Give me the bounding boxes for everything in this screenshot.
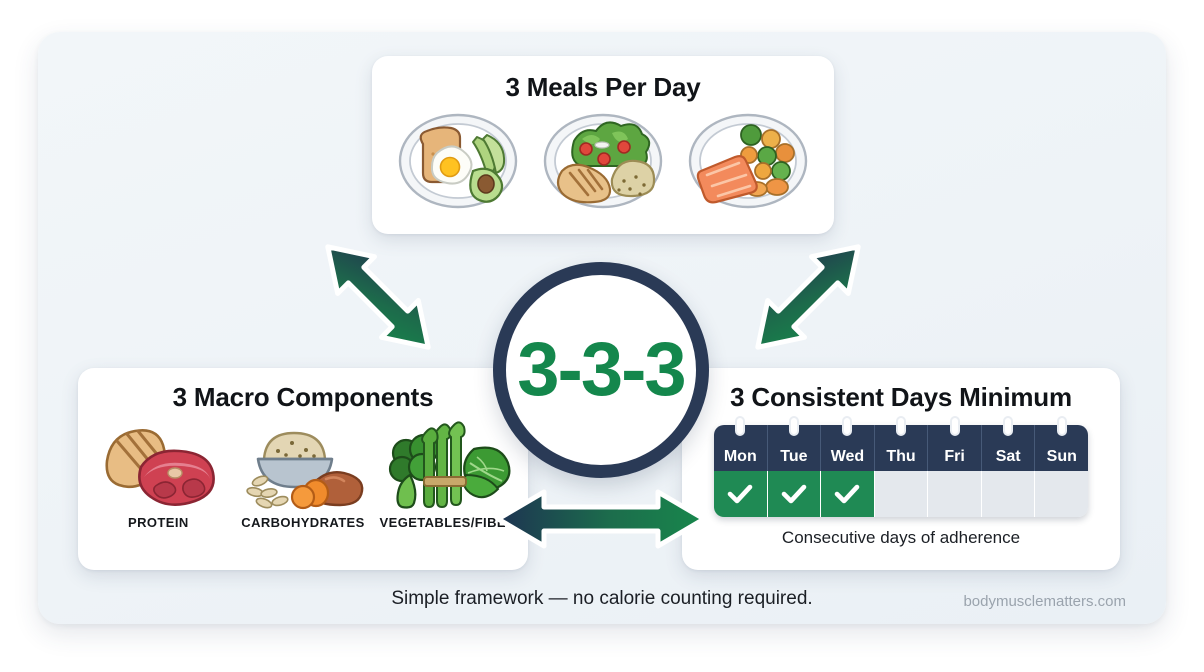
calendar-day-label: Tue xyxy=(780,448,807,466)
calendar-day-header-thu: Thu xyxy=(875,425,929,471)
macro-item-protein: PROTEIN xyxy=(88,415,228,530)
calendar-ring-icon xyxy=(1003,416,1013,436)
calendar-day-cell-sat[interactable] xyxy=(982,471,1036,517)
panel-days-title: 3 Consistent Days Minimum xyxy=(682,368,1120,413)
macro-item-carbohydrates: CARBOHYDRATES xyxy=(233,415,373,530)
calendar-header-row: MonTueWedThuFriSatSun xyxy=(714,425,1088,471)
calendar-day-cell-mon[interactable] xyxy=(714,471,768,517)
panel-meals-title: 3 Meals Per Day xyxy=(372,56,834,103)
calendar-day-header-wed: Wed xyxy=(821,425,875,471)
calendar-day-label: Sat xyxy=(996,448,1021,466)
check-icon xyxy=(781,483,807,505)
calendar-ring-icon xyxy=(842,416,852,436)
calendar-day-label: Thu xyxy=(886,448,915,466)
infographic-canvas: 3 Meals Per Day xyxy=(0,0,1204,672)
macro-art xyxy=(88,415,228,511)
arrow-meals-days-icon xyxy=(748,222,868,372)
calendar-wrapper: MonTueWedThuFriSatSun xyxy=(682,425,1120,517)
macro-label: PROTEIN xyxy=(88,515,228,530)
calendar-day-header-sat: Sat xyxy=(982,425,1036,471)
weekly-calendar: MonTueWedThuFriSatSun xyxy=(714,425,1088,517)
calendar-ring-icon xyxy=(789,416,799,436)
meals-row xyxy=(372,103,834,209)
meal-item xyxy=(683,109,813,209)
calendar-ring-icon xyxy=(896,416,906,436)
meal-item xyxy=(393,109,523,209)
calendar-day-cell-tue[interactable] xyxy=(768,471,822,517)
check-icon xyxy=(834,483,860,505)
calendar-day-cell-thu[interactable] xyxy=(875,471,929,517)
calendar-day-header-mon: Mon xyxy=(714,425,768,471)
calendar-day-cell-fri[interactable] xyxy=(928,471,982,517)
check-icon xyxy=(727,483,753,505)
calendar-day-label: Fri xyxy=(944,448,964,466)
panel-macro-components: 3 Macro Components xyxy=(78,368,528,570)
calendar-day-cell-wed[interactable] xyxy=(821,471,875,517)
calendar-check-row xyxy=(714,471,1088,517)
plate-salmon-vegetables-icon xyxy=(687,109,809,209)
panel-meals-per-day: 3 Meals Per Day xyxy=(372,56,834,234)
steak-chicken-icon xyxy=(97,419,219,511)
calendar-day-header-sun: Sun xyxy=(1035,425,1088,471)
calendar-day-header-fri: Fri xyxy=(928,425,982,471)
panel-macros-title: 3 Macro Components xyxy=(78,368,528,413)
panel-consistent-days: 3 Consistent Days Minimum MonTueWedThuFr… xyxy=(682,368,1120,570)
macro-row: PROTEIN xyxy=(78,413,528,530)
macro-label: CARBOHYDRATES xyxy=(233,515,373,530)
center-badge: 3-3-3 xyxy=(493,262,709,478)
plate-toast-egg-avocado-icon xyxy=(397,109,519,209)
plate-chicken-salad-grains-icon xyxy=(542,109,664,209)
calendar-day-label: Wed xyxy=(831,448,864,466)
watermark: bodymusclematters.com xyxy=(963,593,1126,610)
calendar-caption: Consecutive days of adherence xyxy=(682,528,1120,548)
arrow-macros-days-icon xyxy=(492,480,710,558)
center-badge-label: 3-3-3 xyxy=(517,332,684,408)
calendar-day-label: Mon xyxy=(724,448,757,466)
arrow-meals-macros-icon xyxy=(318,222,438,372)
calendar-day-cell-sun[interactable] xyxy=(1035,471,1088,517)
calendar-ring-icon xyxy=(1057,416,1067,436)
rice-bowl-sweet-potato-oats-icon xyxy=(240,419,366,511)
meal-item xyxy=(538,109,668,209)
calendar-day-label: Sun xyxy=(1047,448,1077,466)
calendar-day-header-tue: Tue xyxy=(768,425,822,471)
calendar-ring-icon xyxy=(950,416,960,436)
macro-art xyxy=(233,415,373,511)
calendar-ring-icon xyxy=(735,416,745,436)
